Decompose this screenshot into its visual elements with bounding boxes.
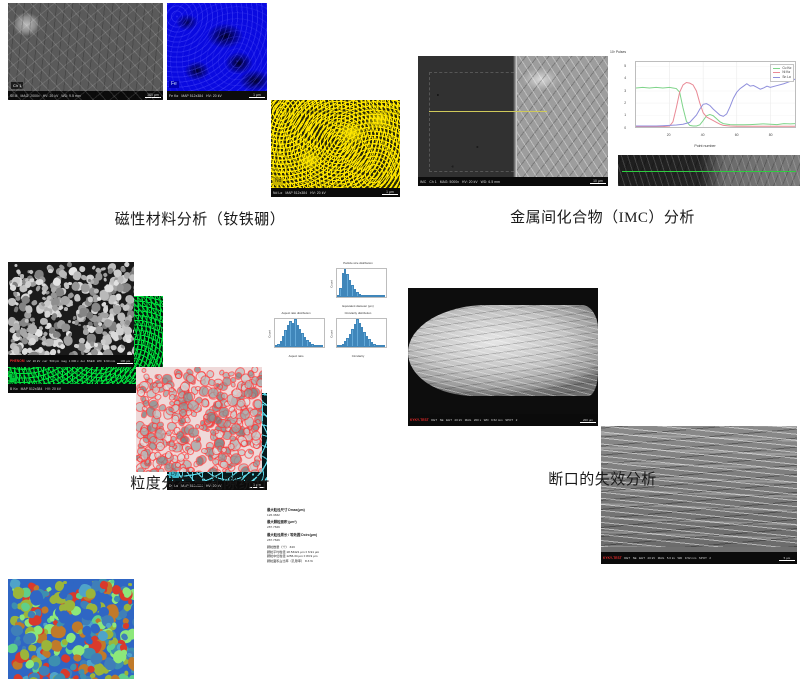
particle [131, 603, 134, 614]
scale-value: 100 µm [147, 93, 159, 97]
particle [261, 434, 262, 438]
legend-label-2: Sn Lα [782, 75, 790, 80]
particle [228, 372, 233, 377]
imc-info-2: MAG: 5000x [440, 180, 459, 184]
imc-cross-section[interactable]: IMC Ch 1 MAG: 5000x HV: 20 kV WD: 6.5 mm… [418, 56, 608, 186]
hist-0-ylabel: Count [329, 280, 333, 287]
hist-2-ylabel: Count [329, 330, 333, 337]
hist-0-xlabel: Equivalent diameter (µm) [327, 304, 389, 308]
particle [172, 415, 178, 422]
p-info-7: BSED [87, 359, 95, 363]
particle [219, 461, 227, 468]
eds-element-label-nd: Nd [273, 178, 283, 185]
caption-particle-analysis: 粒度分布与孔隙统计 [0, 472, 400, 493]
hist-0-title: Particle size distribution [327, 261, 389, 265]
plot-ytick: 2 [624, 101, 626, 105]
sem-info-2: HV: 20 kV [43, 94, 59, 98]
caption-imc-analysis: 金属间化合物（IMC）分析 [405, 206, 800, 227]
particle [48, 655, 61, 667]
imc-info-4: WD: 6.5 mm [481, 180, 500, 184]
segmented-particle-map[interactable] [8, 579, 134, 679]
hist-2-xlabel: Circularity [327, 354, 389, 358]
eds-fe-info-1: MAP 512x384 [181, 94, 203, 98]
f1-info-5: 5.0 kx [667, 556, 675, 560]
p-info-6: det [81, 359, 85, 363]
hist-1-xlabel: Aspect ratio [265, 354, 327, 358]
f1-info-7: 9.52 mm [685, 556, 697, 560]
scale-bar: 10 µm [590, 179, 606, 184]
f1-info-4: MAG [658, 556, 665, 560]
plot-x-title: Point number [610, 144, 800, 148]
particle [220, 407, 229, 416]
particle [82, 626, 92, 636]
particle [96, 273, 103, 281]
plot-xtick: 20 [667, 133, 671, 137]
plot-y-title: 10³ Pulses [610, 50, 626, 54]
fracture-detail-image[interactable]: KYKY-TEST DET SE EHT 20 kV MAG 5.0 kx WD… [601, 426, 797, 564]
eds-fe-info-2: HV: 20 kV [206, 94, 222, 98]
panel-imc-analysis: IMC Ch 1 MAG: 5000x HV: 20 kV WD: 6.5 mm… [405, 0, 800, 236]
scale-value: 5 µm [784, 556, 791, 560]
hist-aspect-ratio[interactable]: Aspect ratio distribution Count Aspect r… [265, 310, 327, 358]
particle [57, 312, 63, 318]
imc-scan-line [429, 111, 547, 112]
particle [68, 332, 73, 337]
caption-fracture-analysis: 断口的失效分析 [405, 468, 800, 489]
particle [44, 310, 50, 317]
particle [64, 307, 69, 311]
sem-info-1: MAG: 2000x [20, 94, 39, 98]
hist-bar [383, 345, 385, 347]
sem-info-3: WD: 9.5 mm [61, 94, 80, 98]
hist-bar [321, 345, 323, 347]
plot-xtick: 80 [769, 133, 773, 137]
particle [128, 657, 134, 667]
stat-value-1: 287.7846 [267, 525, 319, 530]
particle [73, 654, 82, 662]
scale-bar: 1 µm [382, 190, 398, 195]
particle [57, 349, 60, 353]
f0-info-2: EHT [446, 418, 452, 422]
particle [14, 264, 18, 268]
scale-bar: 1 µm [249, 93, 265, 98]
f1-info-6: WD [677, 556, 682, 560]
hist-2-title: Circularity distribution [327, 311, 389, 315]
stat-value-0: 126.3832 [267, 513, 319, 518]
f1-info-8: SPOT [699, 556, 707, 560]
particle [100, 267, 105, 272]
stat-value-3: 343 [290, 545, 295, 549]
particle [231, 382, 235, 387]
particle [38, 325, 43, 330]
p-info-5: 1 000 x [69, 359, 79, 363]
particle [185, 454, 188, 458]
particle [192, 412, 197, 416]
phenom-logo: PHENOM [10, 359, 25, 363]
particle [78, 324, 81, 327]
particle [92, 302, 101, 311]
hist-bar [383, 295, 385, 297]
plot-xtick: 60 [735, 133, 739, 137]
imc-linescan-strip[interactable] [618, 155, 800, 186]
plot-legend[interactable]: Cu Kα Ni Kα Sn Lα [770, 64, 794, 82]
fracture-detail-infobar: KYKY-TEST DET SE EHT 20 kV MAG 5.0 kx WD… [601, 552, 797, 564]
slide-canvas: Ch 1 SEM MAG: 2000x HV: 20 kV WD: 9.5 mm… [0, 0, 800, 533]
particle [142, 369, 146, 373]
eds-map-fe[interactable]: Fe Fe Kα MAP 512x384 HV: 20 kV 1 µm [167, 3, 267, 100]
hist-circularity[interactable]: Circularity distribution Count Circulari… [327, 310, 389, 358]
linescan-green-line [622, 171, 797, 172]
f0-info-5: 200 x [474, 418, 481, 422]
f0-info-3: 20 kV [455, 418, 463, 422]
particle [196, 437, 201, 442]
particle [12, 672, 24, 679]
imc-info-3: HV: 20 kV [462, 180, 478, 184]
hist-1-title: Aspect ratio distribution [265, 311, 327, 315]
eds-nd-info-0: Nd Lα [273, 191, 282, 195]
particle [109, 313, 113, 318]
f0-info-7: 9.52 mm [491, 418, 503, 422]
eds-infobar-fe: Fe Kα MAP 512x384 HV: 20 kV 1 µm [167, 91, 267, 100]
particle [10, 601, 18, 610]
plot-ytick: 0 [624, 126, 626, 130]
particle [237, 418, 241, 423]
particle [238, 449, 245, 455]
particle [125, 671, 129, 676]
particle [110, 344, 117, 350]
particle [61, 653, 72, 664]
scale-bar: 100 µm [117, 359, 133, 364]
particle [206, 429, 209, 432]
p-info-1: 20 kV [33, 359, 41, 363]
eds-infobar-nd: Nd Lα MAP 512x384 HV: 20 kV 1 µm [271, 188, 400, 197]
f1-info-9: 2 [709, 556, 711, 560]
particle [100, 338, 106, 344]
kyky-logo: KYKY-TEST [410, 418, 429, 422]
f0-info-9: 2 [516, 418, 518, 422]
stat-value-6: 8.3 % [305, 559, 313, 563]
particle [256, 379, 262, 388]
p-info-4: mag [61, 359, 67, 363]
plot-ytick: 3 [624, 89, 626, 93]
eds-nd-info-1: MAP 512x384 [285, 191, 307, 195]
particle [128, 583, 132, 587]
fracture-overview-infobar: KYKY-TEST DET SE EHT 20 kV MAG 200 x WD … [408, 414, 598, 426]
particle [196, 457, 203, 465]
panel-fracture-analysis: KYKY-TEST DET SE EHT 20 kV MAG 200 x WD … [405, 275, 800, 505]
particle [67, 579, 75, 587]
particle [128, 274, 134, 283]
scale-value: 200 µm [583, 418, 593, 422]
legend-item-2: Sn Lα [773, 75, 791, 80]
particle [128, 674, 134, 679]
plot-ytick: 1 [624, 113, 626, 117]
particle [103, 277, 107, 282]
particle [228, 443, 234, 449]
scale-value: 10 µm [593, 179, 603, 183]
particle [166, 430, 171, 435]
particle-infobar: PHENOM HV 20 kV curr 500 pA mag 1 000 x … [8, 355, 134, 367]
f0-info-6: WD [484, 418, 489, 422]
hist-1-ylabel: Count [267, 330, 271, 337]
f1-info-0: DET [624, 556, 630, 560]
p-info-3: 500 pA [50, 359, 59, 363]
particle [93, 342, 98, 347]
eds-fe-info-0: Fe Kα [169, 94, 178, 98]
particle [122, 623, 129, 629]
eds-line-scan-plot[interactable]: 10³ Pulses 012345 20406080 Point number … [610, 46, 800, 151]
scale-bar: 200 µm [580, 418, 596, 423]
particle-statistics-block: 最大粒径尺寸 Dmax(µm)126.3832最大颗粒面积 (µm²)287.7… [267, 508, 319, 564]
scale-value: 1 µm [386, 190, 394, 194]
particle [133, 329, 134, 333]
fracture-overview-image[interactable]: KYKY-TEST DET SE EHT 20 kV MAG 200 x WD … [408, 288, 598, 426]
particle [224, 378, 231, 386]
particle [63, 581, 67, 584]
kyky-logo: KYKY-TEST [603, 556, 622, 560]
scale-value: 1 µm [253, 93, 261, 97]
particle [221, 447, 226, 452]
particle-detection-overlay[interactable] [136, 367, 262, 472]
plot-ytick: 4 [624, 76, 626, 80]
imc-info-0: IMC [420, 180, 426, 184]
stat-value-4: 18.53421 µm ± 6.91 µm [286, 550, 319, 554]
particle [202, 399, 208, 406]
f0-info-0: DET [431, 418, 437, 422]
scale-bar: 100 µm [145, 93, 161, 98]
eds-element-label-fe: Fe [169, 81, 179, 88]
p-info-8: WD [97, 359, 102, 363]
stat-label-6: 颗粒面积占比率（孔隙率） 8.3 % [267, 559, 319, 564]
imc-info-1: Ch 1 [429, 180, 436, 184]
particle [185, 417, 191, 423]
imc-infobar: IMC Ch 1 MAG: 5000x HV: 20 kV WD: 6.5 mm… [418, 177, 608, 186]
f1-info-3: 20 kV [648, 556, 656, 560]
caption-magnetic-material: 磁性材料分析（钕铁硼） [0, 208, 400, 229]
sem-infobar: SEM MAG: 2000x HV: 20 kV WD: 9.5 mm 100 … [8, 91, 163, 100]
f1-info-1: SE [633, 556, 637, 560]
eds-nd-info-2: HV: 20 kV [310, 191, 326, 195]
sem-info-0: SEM [10, 94, 17, 98]
f1-info-2: EHT [639, 556, 645, 560]
sem-channel-tag: Ch 1 [11, 82, 23, 89]
p-info-9: 9.90 mm [104, 359, 116, 363]
hist-particle-size[interactable]: Particle size distribution Count Equival… [327, 260, 389, 308]
sem-microstructure[interactable]: Ch 1 SEM MAG: 2000x HV: 20 kV WD: 9.5 mm… [8, 3, 163, 100]
f0-info-8: SPOT [505, 418, 513, 422]
particle [131, 617, 134, 628]
panel-particle-analysis: PHENOM HV 20 kV curr 500 pA mag 1 000 x … [0, 250, 400, 500]
plot-ytick: 5 [624, 64, 626, 68]
stat-label-2: 最大粒径周长 / 等效圆 Dcirc(µm) [267, 533, 319, 538]
f0-info-1: SE [440, 418, 444, 422]
bse-particle-image[interactable]: PHENOM HV 20 kV curr 500 pA mag 1 000 x … [8, 262, 134, 367]
f0-info-4: MAG [465, 418, 472, 422]
panel-magnetic-material: Ch 1 SEM MAG: 2000x HV: 20 kV WD: 9.5 mm… [0, 0, 400, 236]
scale-value: 100 µm [120, 359, 130, 363]
stat-value-2: 287.7846 [267, 538, 319, 543]
scale-bar: 5 µm [779, 556, 795, 561]
particle [74, 294, 80, 301]
stat-value-5: 1256.34 µm ± 83.9 µm [286, 554, 317, 558]
p-info-2: curr [42, 359, 47, 363]
eds-map-nd[interactable]: Nd Nd Lα MAP 512x384 HV: 20 kV 1 µm [271, 100, 400, 197]
p-info-0: HV [27, 359, 31, 363]
plot-xtick: 40 [701, 133, 705, 137]
